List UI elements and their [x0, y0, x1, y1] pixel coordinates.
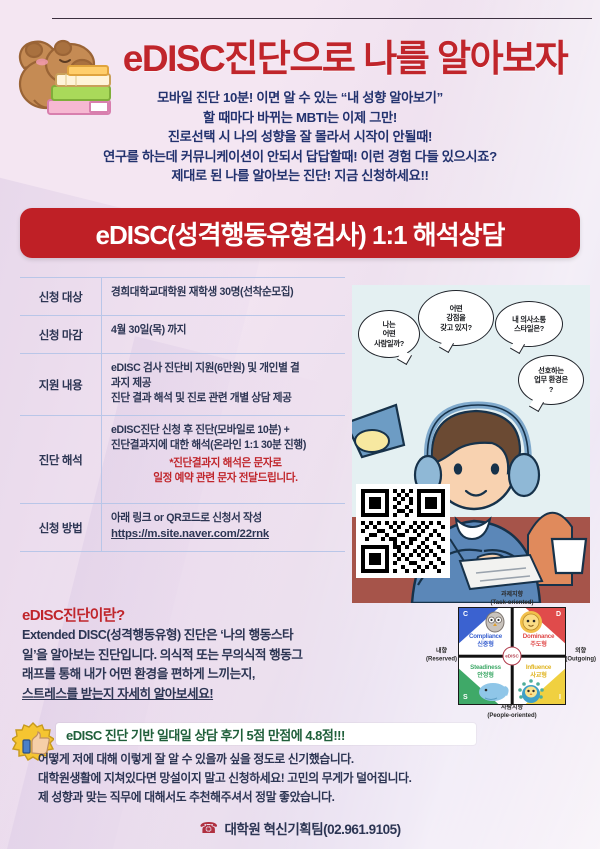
contact-line: ☎ 대학원 혁신기획팀(02.961.9105) — [0, 818, 600, 838]
disc-label-compliance-ko: 신중형 — [459, 641, 512, 649]
subtitle-line-1: 모바일 진단 10분! 이면 알 수 있는 “내 성향 알아보기” — [14, 88, 586, 108]
disc-letter-s: S — [463, 694, 468, 701]
disc-axis-bottom-ko: 사람지향 — [501, 705, 523, 711]
speech-bubble: 선호하는업무 환경은? — [518, 355, 584, 405]
row-label-support: 지원 내용 — [20, 354, 102, 415]
row-value-line: 과지 제공 — [111, 376, 340, 391]
row-label-howto: 신청 방법 — [20, 504, 102, 551]
row-value-target: 경희대학교대학원 재학생 30명(선착순모집) — [102, 278, 345, 315]
row-value-line: 경희대학교대학원 재학생 30명(선착순모집) — [111, 285, 340, 300]
explanation-line: Extended DISC(성격행동유형) 진단은 ‘나의 행동스타 — [22, 626, 432, 646]
disc-quadrant-diagram: 과제지향 (Task-oriented) 사람지향 (People-orient… — [432, 592, 592, 720]
row-value-line: 아래 링크 or QR코드로 신청서 작성 — [111, 511, 340, 526]
disc-axis-left-en: (Reserved) — [426, 656, 457, 662]
table-row: 신청 대상 경희대학교대학원 재학생 30명(선착순모집) — [20, 278, 345, 316]
disc-axis-right-ko: 외향 — [575, 649, 586, 655]
row-value-support: eDISC 검사 진단비 지원(6만원) 및 개인별 결 과지 제공 진단 결과… — [102, 354, 345, 415]
disc-label-dominance-ko: 주도형 — [512, 641, 565, 649]
disc-axis-left: 내향 (Reserved) — [426, 649, 457, 664]
table-row: 신청 마감 4월 30일(목) 까지 — [20, 316, 345, 354]
disc-label-influence-en: Influence — [512, 664, 565, 672]
row-value-line: 진단결과지에 대한 해석(온라인 1:1 30분 진행) — [111, 438, 340, 453]
table-row: 신청 방법 아래 링크 or QR코드로 신청서 작성 https://m.si… — [20, 504, 345, 552]
disc-center-badge: eDiSC — [503, 647, 522, 666]
speech-bubble: 어떤강점을갖고 있지? — [418, 290, 494, 346]
program-title-text: eDISC(성격행동유형검사) 1:1 해석상담 — [96, 215, 505, 252]
header-divider-rule — [52, 18, 592, 19]
review-line: 대학원생활에 지쳐있다면 망설이지 말고 신청하세요! 고민의 무게가 덜어집니… — [38, 769, 583, 788]
row-value-deadline: 4월 30일(목) 까지 — [102, 316, 345, 353]
phone-icon: ☎ — [199, 821, 217, 836]
explanation-line: 일’을 알아보는 진단입니다. 의식적 또는 무의식적 행동그 — [22, 646, 432, 666]
disc-axis-top-en: (Task-oriented) — [491, 600, 534, 606]
row-value-line: 4월 30일(목) 까지 — [111, 323, 340, 338]
disc-letter-i: I — [559, 694, 561, 701]
row-value-howto: 아래 링크 or QR코드로 신청서 작성 https://m.site.nav… — [102, 504, 345, 551]
table-row: 진단 해석 eDISC진단 신청 후 진단(모바일로 10분) + 진단결과지에… — [20, 416, 345, 504]
contact-text: 대학원 혁신기획팀(02.961.9105) — [225, 818, 401, 838]
explanation-line: 스트레스를 받는지 자세히 알아보세요! — [22, 685, 432, 705]
disc-label-dominance-en: Dominance — [512, 633, 565, 641]
disc-axis-bottom-en: (People-oriented) — [487, 713, 536, 719]
disc-quadrant-steadiness: S Steadiness 안정형 — [459, 656, 512, 704]
row-note-line: *진단결과지 해석은 문자로 — [111, 456, 340, 471]
table-row: 지원 내용 eDISC 검사 진단비 지원(6만원) 및 개인별 결 과지 제공… — [20, 354, 345, 416]
disc-quadrant-dominance: D Dominance 주도형 — [512, 608, 565, 656]
disc-box: C Compliance 신중형 D Dominance 주도형 — [458, 607, 566, 705]
disc-axis-top-ko: 과제지향 — [501, 592, 523, 598]
row-value-line: eDISC 검사 진단비 지원(6만원) 및 개인별 결 — [111, 361, 340, 376]
explanation-line: 래프를 통해 내가 어떤 환경을 편하게 느끼는지, — [22, 665, 432, 685]
subtitle-line-4: 연구를 하는데 커뮤니케이션이 안되서 답답할때! 이런 경험 다들 있으시죠? — [14, 147, 586, 167]
review-line: 제 성향과 맞는 직무에 대해서도 추천해주셔서 정말 좋았습니다. — [38, 788, 583, 807]
row-value-line: eDISC진단 신청 후 진단(모바일로 10분) + — [111, 423, 340, 438]
subtitle-block: 모바일 진단 10분! 이면 알 수 있는 “내 성향 알아보기” 할 때마다 … — [14, 88, 586, 186]
row-label-interpretation: 진단 해석 — [20, 416, 102, 503]
speech-bubble: 나는어떤사람일까? — [358, 310, 420, 358]
disc-label-influence-ko: 사교형 — [512, 672, 565, 680]
disc-label-compliance-en: Compliance — [459, 633, 512, 641]
review-body: 어떻게 저에 대해 이렇게 잘 알 수 있을까 싶을 정도로 신기했습니다. 대… — [38, 750, 583, 807]
disc-letter-d: D — [556, 611, 561, 618]
application-link[interactable]: https://m.site.naver.com/22rnk — [111, 527, 340, 542]
disc-axis-right-en: (Outgoing) — [565, 656, 596, 662]
disc-axis-bottom: 사람지향 (People-oriented) — [487, 705, 536, 720]
row-value-line: 진단 결과 해석 및 진로 관련 개별 상담 제공 — [111, 391, 340, 406]
disc-label-steadiness-en: Steadiness — [459, 664, 512, 672]
disc-axis-right: 외향 (Outgoing) — [565, 649, 596, 664]
row-label-target: 신청 대상 — [20, 278, 102, 315]
qr-code[interactable] — [356, 484, 450, 578]
disc-letter-c: C — [463, 611, 468, 618]
review-headline: eDISC 진단 기반 일대일 상담 후기 5점 만점에 4.8점!!! — [56, 723, 476, 745]
row-note-line: 일정 예약 관련 문자 전달드립니다. — [111, 471, 340, 486]
explanation-heading: eDISC진단이란? — [22, 604, 125, 625]
row-label-deadline: 신청 마감 — [20, 316, 102, 353]
disc-axis-left-ko: 내향 — [436, 649, 447, 655]
row-value-interpretation: eDISC진단 신청 후 진단(모바일로 10분) + 진단결과지에 대한 해석… — [102, 416, 345, 503]
disc-quadrant-influence: I Influence 사교형 — [512, 656, 565, 704]
subtitle-line-3: 진로선택 시 나의 성향을 잘 몰라서 시작이 안될때! — [14, 127, 586, 147]
info-table: 신청 대상 경희대학교대학원 재학생 30명(선착순모집) 신청 마감 4월 3… — [20, 277, 345, 552]
explanation-body: Extended DISC(성격행동유형) 진단은 ‘나의 행동스타 일’을 알… — [22, 626, 432, 704]
review-line: 어떻게 저에 대해 이렇게 잘 알 수 있을까 싶을 정도로 신기했습니다. — [38, 750, 583, 769]
subtitle-line-5: 제대로 된 나를 알아보는 진단! 지금 신청하세요!! — [14, 166, 586, 186]
poster-root: eDISC진단으로 나를 알아보자 모바일 진단 10분! 이면 알 수 있는 … — [0, 0, 600, 849]
disc-label-steadiness-ko: 안정형 — [459, 672, 512, 680]
page-title: eDISC진단으로 나를 알아보자 — [96, 28, 594, 82]
speech-bubble: 내 의사소통스타일은? — [495, 301, 563, 347]
disc-axis-top: 과제지향 (Task-oriented) — [491, 592, 534, 607]
subtitle-line-2: 할 때마다 바뀌는 MBTI는 이제 그만! — [14, 108, 586, 128]
program-title-banner: eDISC(성격행동유형검사) 1:1 해석상담 — [20, 208, 580, 258]
